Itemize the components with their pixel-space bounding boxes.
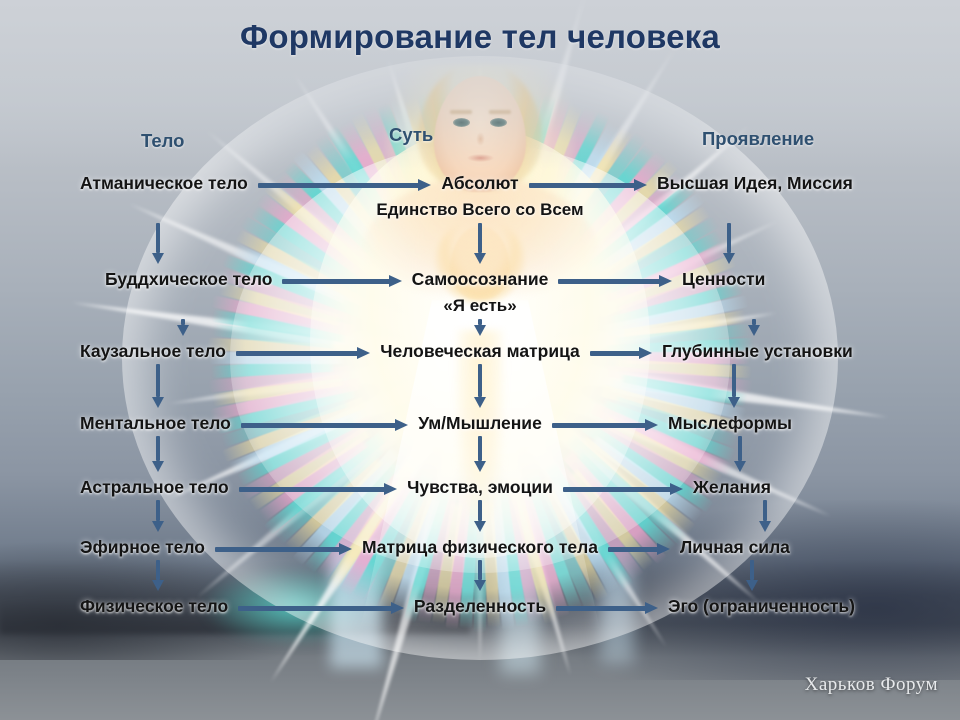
table-cell-essence: Чувства, эмоции [0,476,960,500]
arrow-body-to-essence [241,419,408,431]
column-header-body: Тело [141,130,184,152]
table-cell-essence: Матрица физического тела [0,536,960,560]
arrow-essence-to-manifestation [558,275,672,287]
slide-canvas: Формирование тел человека Тело Суть Проя… [0,0,960,720]
arrow-body-down [152,436,164,472]
table-cell-manifestation: Ценности [682,268,765,292]
table-cell-essence: Самоосознание [0,268,960,292]
table-cell-manifestation: Мыслеформы [668,412,792,436]
arrow-body-to-essence [215,543,352,555]
arrow-body-down [152,223,164,264]
arrow-body-down [177,319,189,336]
arrow-body-to-essence [238,602,404,614]
arrow-body-to-essence [258,179,432,191]
arrow-body-to-essence [239,483,397,495]
column-header-manifestation: Проявление [702,128,814,150]
arrow-manifestation-down [723,223,735,264]
column-header-essence: Суть [389,124,433,146]
table-cell-manifestation: Глубинные установки [662,340,853,364]
arrow-essence-down [474,436,486,472]
arrow-body-to-essence [236,347,370,359]
arrow-essence-to-manifestation [552,419,658,431]
arrow-body-down [152,560,164,591]
table-cell-manifestation: Высшая Идея, Миссия [657,172,853,196]
arrow-essence-down [474,223,486,264]
arrow-manifestation-down [746,560,758,591]
arrow-manifestation-down [759,500,771,532]
table-cell-manifestation: Эго (ограниченность) [668,595,855,619]
table-cell-essence-sub: Единство Всего со Всем [0,199,960,222]
table-cell-essence: Ум/Мышление [0,412,960,436]
arrow-manifestation-down [728,364,740,408]
arrow-body-to-essence [282,275,401,287]
arrow-body-down [152,364,164,408]
table-cell-manifestation: Желания [693,476,771,500]
arrow-essence-down [474,364,486,408]
arrow-essence-to-manifestation [590,347,652,359]
arrow-essence-to-manifestation [556,602,658,614]
arrow-essence-down [474,319,486,336]
table-cell-essence-sub: «Я есть» [0,295,960,318]
table-cell-manifestation: Личная сила [680,536,790,560]
arrow-essence-to-manifestation [563,483,683,495]
watermark: Харьков Форум [805,674,938,696]
arrow-essence-to-manifestation [529,179,647,191]
arrow-manifestation-down [734,436,746,472]
arrow-essence-down [474,500,486,532]
arrow-manifestation-down [748,319,760,336]
arrow-essence-down [474,560,486,591]
page-title: Формирование тел человека [0,18,960,56]
arrow-essence-to-manifestation [608,543,670,555]
arrow-body-down [152,500,164,532]
